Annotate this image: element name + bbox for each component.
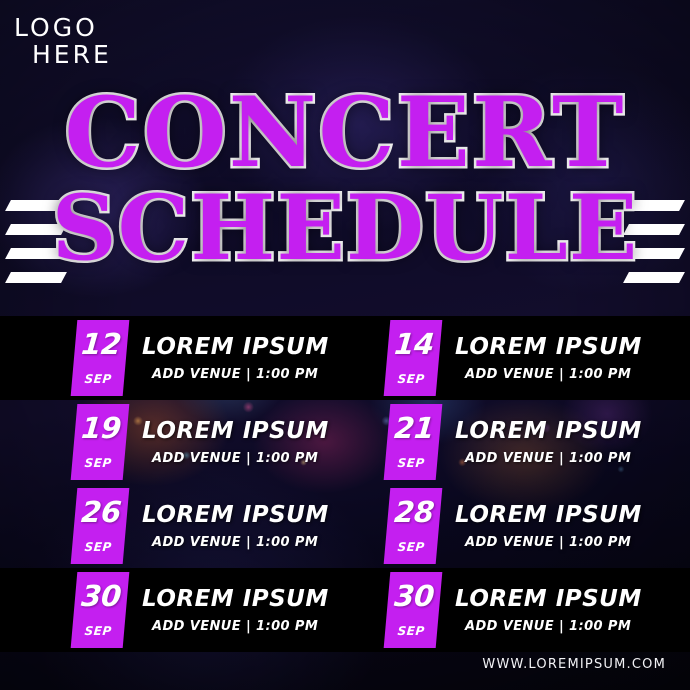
entry-meta: ADD VENUE | 1:00 PM: [142, 451, 329, 466]
entry-info: LOREM IPSUM ADD VENUE | 1:00 PM: [142, 418, 329, 466]
date-badge: 19 SEP: [71, 404, 130, 480]
concert-schedule-poster: LOGO HERE CONCERT SCHEDULE 12 SEP LOREM …: [0, 0, 690, 690]
poster-headline: CONCERT SCHEDULE: [0, 88, 690, 271]
date-month: SEP: [397, 372, 425, 386]
date-month: SEP: [397, 456, 425, 470]
schedule-entry[interactable]: 21 SEP LOREM IPSUM ADD VENUE | 1:00 PM: [345, 400, 690, 484]
date-month: SEP: [84, 456, 112, 470]
date-badge: 21 SEP: [384, 404, 443, 480]
entry-meta: ADD VENUE | 1:00 PM: [142, 535, 329, 550]
schedule-entry[interactable]: 12 SEP LOREM IPSUM ADD VENUE | 1:00 PM: [0, 316, 345, 400]
date-day: 26: [80, 498, 122, 527]
entry-title: LOREM IPSUM: [142, 502, 329, 528]
entry-meta: ADD VENUE | 1:00 PM: [455, 535, 642, 550]
date-badge: 30 SEP: [71, 572, 130, 648]
logo-line-2: HERE: [14, 41, 112, 68]
date-month: SEP: [84, 540, 112, 554]
entry-title: LOREM IPSUM: [142, 586, 329, 612]
entry-meta: ADD VENUE | 1:00 PM: [142, 367, 329, 382]
headline-line-schedule: SCHEDULE: [0, 187, 690, 271]
date-day: 12: [80, 330, 122, 359]
entry-info: LOREM IPSUM ADD VENUE | 1:00 PM: [142, 502, 329, 550]
headline-line-concert: CONCERT: [0, 88, 690, 177]
date-day: 14: [393, 330, 435, 359]
date-badge: 12 SEP: [71, 320, 130, 396]
schedule-row: 12 SEP LOREM IPSUM ADD VENUE | 1:00 PM 1…: [0, 316, 690, 400]
date-badge: 26 SEP: [71, 488, 130, 564]
entry-title: LOREM IPSUM: [142, 418, 329, 444]
entry-info: LOREM IPSUM ADD VENUE | 1:00 PM: [142, 586, 329, 634]
schedule-row: 30 SEP LOREM IPSUM ADD VENUE | 1:00 PM 3…: [0, 568, 690, 652]
logo-placeholder: LOGO HERE: [14, 14, 112, 68]
schedule-entry[interactable]: 14 SEP LOREM IPSUM ADD VENUE | 1:00 PM: [345, 316, 690, 400]
entry-title: LOREM IPSUM: [455, 502, 642, 528]
date-month: SEP: [397, 540, 425, 554]
entry-title: LOREM IPSUM: [455, 334, 642, 360]
entry-info: LOREM IPSUM ADD VENUE | 1:00 PM: [455, 586, 642, 634]
date-day: 28: [393, 498, 435, 527]
entry-info: LOREM IPSUM ADD VENUE | 1:00 PM: [455, 502, 642, 550]
entry-meta: ADD VENUE | 1:00 PM: [455, 367, 642, 382]
schedule-entry[interactable]: 19 SEP LOREM IPSUM ADD VENUE | 1:00 PM: [0, 400, 345, 484]
schedule-row: 19 SEP LOREM IPSUM ADD VENUE | 1:00 PM 2…: [0, 400, 690, 484]
entry-info: LOREM IPSUM ADD VENUE | 1:00 PM: [455, 334, 642, 382]
date-badge: 30 SEP: [384, 572, 443, 648]
date-month: SEP: [84, 372, 112, 386]
entry-title: LOREM IPSUM: [455, 586, 642, 612]
schedule-entry[interactable]: 30 SEP LOREM IPSUM ADD VENUE | 1:00 PM: [0, 568, 345, 652]
entry-meta: ADD VENUE | 1:00 PM: [142, 619, 329, 634]
schedule-entry[interactable]: 26 SEP LOREM IPSUM ADD VENUE | 1:00 PM: [0, 484, 345, 568]
date-day: 30: [393, 582, 435, 611]
schedule-entry[interactable]: 30 SEP LOREM IPSUM ADD VENUE | 1:00 PM: [345, 568, 690, 652]
date-day: 21: [393, 414, 435, 443]
date-day: 19: [80, 414, 122, 443]
logo-line-1: LOGO: [14, 14, 112, 41]
date-day: 30: [80, 582, 122, 611]
date-badge: 14 SEP: [384, 320, 443, 396]
entry-title: LOREM IPSUM: [142, 334, 329, 360]
entry-meta: ADD VENUE | 1:00 PM: [455, 619, 642, 634]
schedule-row: 26 SEP LOREM IPSUM ADD VENUE | 1:00 PM 2…: [0, 484, 690, 568]
schedule-entry[interactable]: 28 SEP LOREM IPSUM ADD VENUE | 1:00 PM: [345, 484, 690, 568]
footer-website[interactable]: WWW.LOREMIPSUM.COM: [482, 657, 666, 672]
entry-meta: ADD VENUE | 1:00 PM: [455, 451, 642, 466]
date-badge: 28 SEP: [384, 488, 443, 564]
date-month: SEP: [84, 624, 112, 638]
entry-info: LOREM IPSUM ADD VENUE | 1:00 PM: [455, 418, 642, 466]
entry-info: LOREM IPSUM ADD VENUE | 1:00 PM: [142, 334, 329, 382]
date-month: SEP: [397, 624, 425, 638]
schedule-list: 12 SEP LOREM IPSUM ADD VENUE | 1:00 PM 1…: [0, 316, 690, 652]
entry-title: LOREM IPSUM: [455, 418, 642, 444]
